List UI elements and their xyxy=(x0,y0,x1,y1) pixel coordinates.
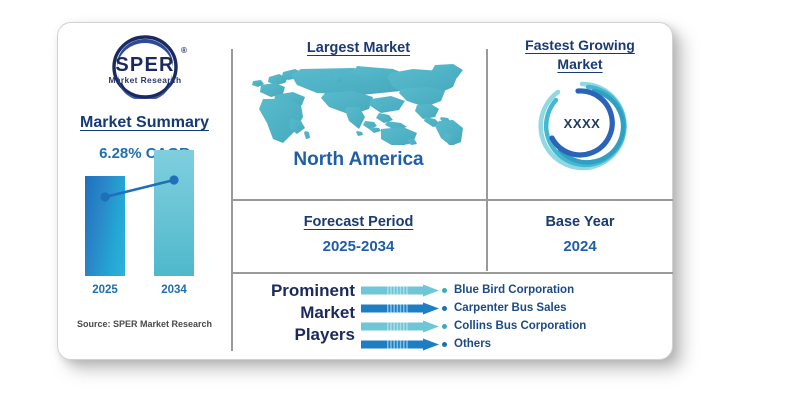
fastest-growing-ring: XXXX xyxy=(534,78,630,174)
players-heading: Prominent Market Players xyxy=(237,280,355,345)
bar-label-2034: 2034 xyxy=(149,284,199,296)
forecast-period-section: Forecast Period 2025-2034 xyxy=(231,199,486,272)
player-bullet-dot xyxy=(442,342,447,347)
player-bar-icon xyxy=(361,302,439,315)
infographic-root: SPER Market Research ® Market Summary 6.… xyxy=(0,0,800,400)
market-summary-panel: SPER Market Research ® Market Summary 6.… xyxy=(58,23,231,361)
player-row: Carpenter Bus Sales xyxy=(361,299,671,317)
player-bar-icon xyxy=(361,284,439,297)
largest-market-value: North America xyxy=(231,149,486,171)
player-name: Carpenter Bus Sales xyxy=(454,302,567,314)
player-bar-icon xyxy=(361,320,439,333)
players-list: Blue Bird CorporationCarpenter Bus Sales… xyxy=(361,281,671,353)
prominent-market-players-section: Prominent Market Players Blue Bird Corpo… xyxy=(231,272,674,361)
infographic-card: SPER Market Research ® Market Summary 6.… xyxy=(57,22,673,360)
player-name: Collins Bus Corporation xyxy=(454,320,586,332)
player-row: Collins Bus Corporation xyxy=(361,317,671,335)
fastest-growing-section: Fastest Growing Market XXXX xyxy=(486,23,674,199)
player-name: Others xyxy=(454,338,491,350)
sper-logo-tagline: Market Research xyxy=(91,75,199,85)
player-bullet-dot xyxy=(442,324,447,329)
largest-market-title: Largest Market xyxy=(231,40,486,56)
fastest-growing-title: Fastest Growing Market xyxy=(504,36,656,74)
bar-label-2025: 2025 xyxy=(80,284,130,296)
base-year-value: 2024 xyxy=(486,238,674,255)
forecast-period-value: 2025-2034 xyxy=(231,238,486,255)
fastest-growing-value: XXXX xyxy=(534,116,630,131)
trend-line-overlay xyxy=(58,173,231,318)
player-bullet-dot xyxy=(442,288,447,293)
player-name: Blue Bird Corporation xyxy=(454,284,574,296)
player-row: Others xyxy=(361,335,671,353)
player-bar-icon xyxy=(361,338,439,351)
base-year-title: Base Year xyxy=(486,214,674,230)
sper-logo: SPER Market Research ® xyxy=(91,35,199,99)
chart-source-note: Source: SPER Market Research xyxy=(58,319,231,329)
player-bullet-dot xyxy=(442,306,447,311)
largest-market-section: Largest Market xyxy=(231,23,486,199)
player-row: Blue Bird Corporation xyxy=(361,281,671,299)
world-map-icon xyxy=(239,63,479,145)
forecast-period-title: Forecast Period xyxy=(231,214,486,230)
base-year-section: Base Year 2024 xyxy=(486,199,674,272)
market-summary-title: Market Summary xyxy=(58,114,231,132)
sper-logo-wordmark: SPER xyxy=(91,55,199,75)
market-summary-bar-chart: 2025 2034 xyxy=(58,173,231,318)
cagr-value: 6.28% CAGR xyxy=(58,145,231,162)
registered-mark-icon: ® xyxy=(181,46,187,55)
